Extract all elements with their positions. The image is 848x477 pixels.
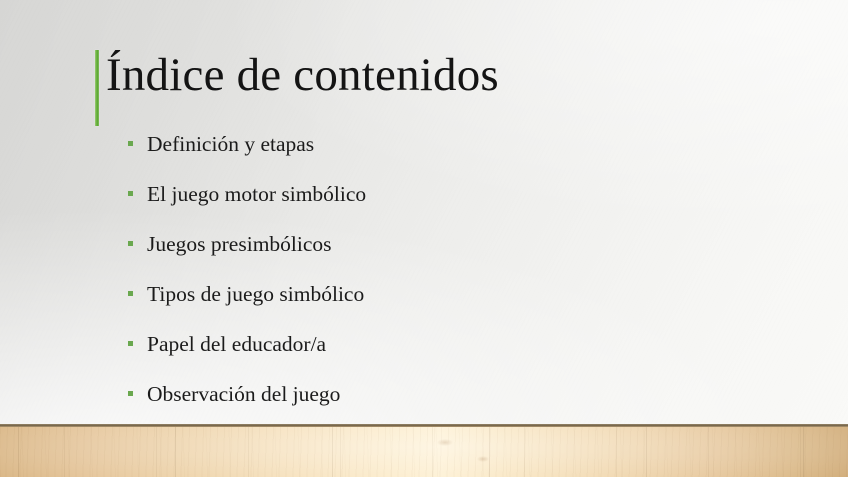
bullet-dot-icon xyxy=(128,341,133,346)
list-item: Juegos presimbólicos xyxy=(128,231,788,281)
list-item: Definición y etapas xyxy=(128,131,788,181)
bullet-list: Definición y etapas El juego motor simbó… xyxy=(128,131,788,431)
bullet-dot-icon xyxy=(128,241,133,246)
list-item-label: Definición y etapas xyxy=(147,131,314,157)
floor-highlight xyxy=(0,427,848,477)
list-item-label: Juegos presimbólicos xyxy=(147,231,332,257)
list-item-label: El juego motor simbólico xyxy=(147,181,366,207)
bullet-dot-icon xyxy=(128,191,133,196)
wooden-floor-band xyxy=(0,424,848,477)
list-item: El juego motor simbólico xyxy=(128,181,788,231)
slide-title: Índice de contenidos xyxy=(106,46,499,104)
bullet-dot-icon xyxy=(128,141,133,146)
title-accent-bar xyxy=(95,50,99,126)
floor-wood-surface xyxy=(0,427,848,477)
presentation-slide: Índice de contenidos Definición y etapas… xyxy=(0,0,848,477)
list-item-label: Papel del educador/a xyxy=(147,331,326,357)
bullet-dot-icon xyxy=(128,291,133,296)
list-item: Tipos de juego simbólico xyxy=(128,281,788,331)
list-item-label: Observación del juego xyxy=(147,381,340,407)
list-item-label: Tipos de juego simbólico xyxy=(147,281,364,307)
list-item: Papel del educador/a xyxy=(128,331,788,381)
bullet-dot-icon xyxy=(128,391,133,396)
